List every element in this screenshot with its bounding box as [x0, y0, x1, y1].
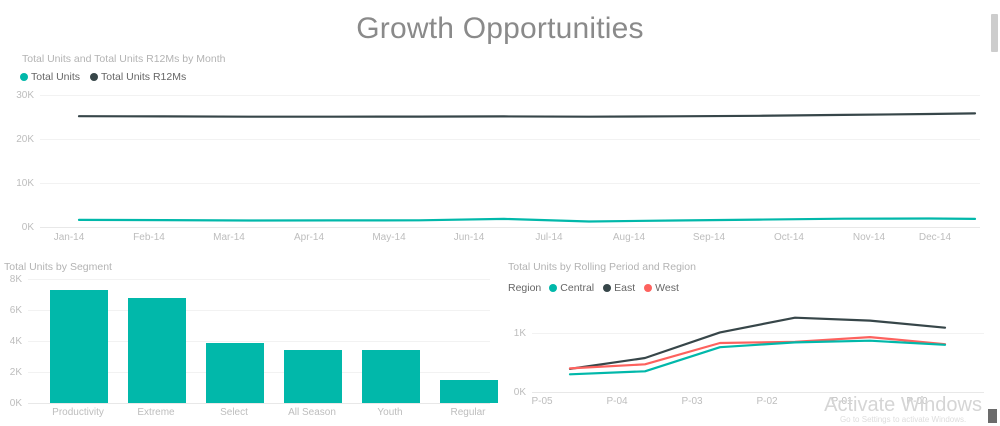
vertical-scrollbar[interactable] — [990, 0, 1000, 426]
legend-label: Total Units — [31, 71, 80, 83]
region-x-tick: P-02 — [727, 396, 807, 407]
bar-regular[interactable] — [440, 380, 498, 403]
legend-dot-icon — [603, 284, 611, 292]
legend-dot-icon — [549, 284, 557, 292]
region-x-tick: P-00 — [877, 396, 957, 407]
watermark-badge-icon — [988, 409, 997, 423]
trend-y-tick-30k: 30K — [0, 90, 34, 101]
segment-y-tick-2k: 2K — [0, 367, 22, 378]
segment-chart-title: Total Units by Segment — [4, 261, 112, 273]
region-x-tick: P-05 — [502, 396, 582, 407]
axis-baseline — [28, 403, 490, 404]
region-chart-plot — [532, 293, 984, 393]
segment-y-tick-6k: 6K — [0, 305, 22, 316]
legend-dot-icon — [20, 73, 28, 81]
visual-total-units-by-segment[interactable]: Total Units by Segment 8K 6K 4K 2K 0K Pr… — [0, 259, 496, 426]
trend-y-tick-20k: 20K — [0, 134, 34, 145]
region-x-tick: P-01 — [802, 396, 882, 407]
series-line-central — [570, 341, 945, 375]
legend-item-total-units[interactable]: Total Units — [20, 71, 80, 83]
region-x-tick: P-03 — [652, 396, 732, 407]
series-line-total-units — [79, 219, 975, 222]
bar-extreme[interactable] — [128, 298, 186, 403]
visual-total-units-trend[interactable]: Total Units and Total Units R12Ms by Mon… — [0, 50, 986, 255]
bar-select[interactable] — [206, 343, 264, 403]
legend-dot-icon — [644, 284, 652, 292]
segment-chart-plot — [28, 279, 490, 403]
segment-y-tick-8k: 8K — [0, 274, 22, 285]
vertical-scrollbar-thumb[interactable] — [991, 14, 998, 52]
segment-y-tick-0k: 0K — [0, 398, 22, 409]
bar-youth[interactable] — [362, 350, 420, 404]
trend-chart-title: Total Units and Total Units R12Ms by Mon… — [22, 53, 225, 65]
trend-x-tick: Dec-14 — [880, 232, 990, 243]
legend-dot-icon — [90, 73, 98, 81]
trend-y-tick-10k: 10K — [0, 178, 34, 189]
bar-productivity[interactable] — [50, 290, 108, 403]
page-title: Growth Opportunities — [0, 12, 1000, 46]
region-y-tick-1k: 1K — [504, 328, 526, 339]
legend-item-total-units-r12ms[interactable]: Total Units R12Ms — [90, 71, 186, 83]
visual-total-units-by-rolling-period-and-region[interactable]: Total Units by Rolling Period and Region… — [504, 259, 990, 426]
bar-all-season[interactable] — [284, 350, 342, 404]
region-chart-title: Total Units by Rolling Period and Region — [508, 261, 696, 273]
segment-y-tick-4k: 4K — [0, 336, 22, 347]
region-x-tick: P-04 — [577, 396, 657, 407]
trend-chart-legend[interactable]: Total Units Total Units R12Ms — [20, 71, 186, 83]
legend-label: Total Units R12Ms — [101, 71, 186, 83]
trend-chart-plot — [40, 95, 980, 228]
series-line-total-units-r12ms — [79, 113, 975, 116]
